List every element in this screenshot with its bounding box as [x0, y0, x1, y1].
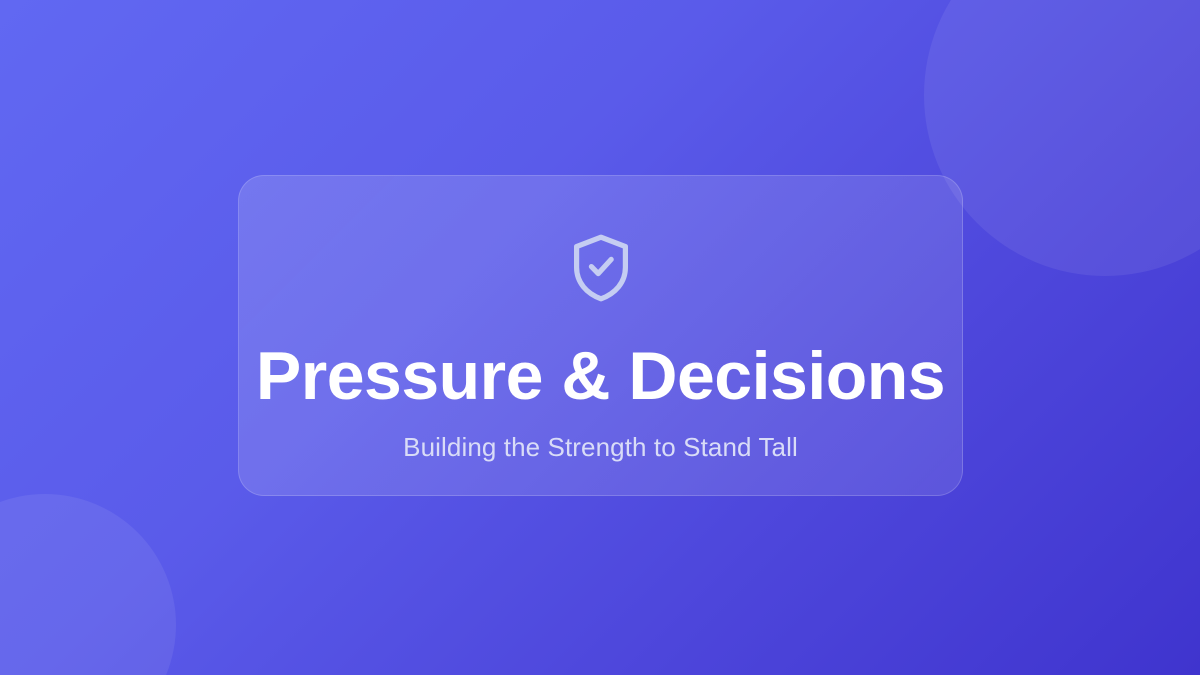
decorative-circle-bottom-left — [0, 494, 176, 675]
title-card: Pressure & Decisions Building the Streng… — [238, 175, 963, 496]
page-title: Pressure & Decisions — [256, 342, 945, 410]
title-slide: Pressure & Decisions Building the Streng… — [0, 0, 1200, 675]
page-subtitle: Building the Strength to Stand Tall — [403, 432, 798, 463]
shield-check-icon — [571, 234, 631, 302]
decorative-circle-top-right — [924, 0, 1200, 276]
